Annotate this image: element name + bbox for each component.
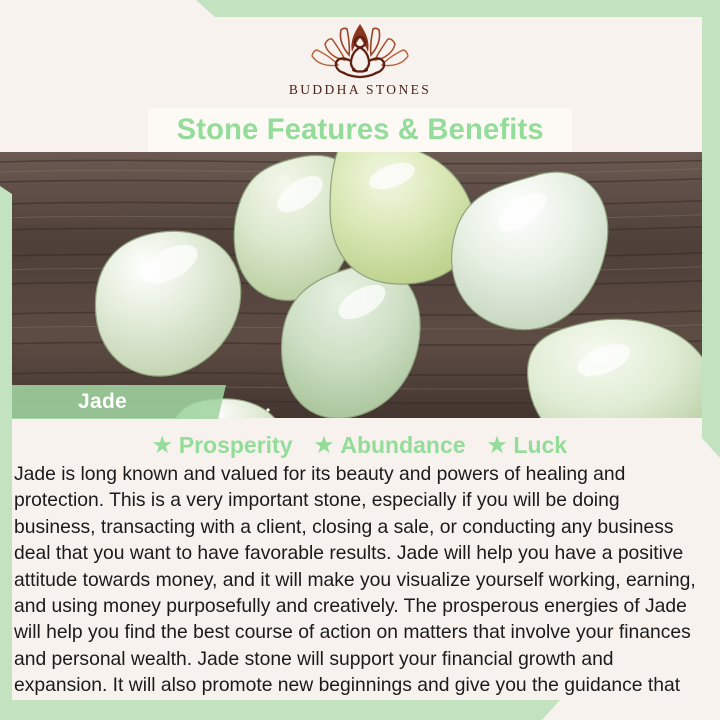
stone-name-label: Jade [78, 390, 127, 414]
lotus-meditation-icon [297, 17, 423, 81]
title-banner: Stone Features & Benefits [148, 108, 572, 152]
star-icon: ★ [153, 435, 172, 456]
stone-info-card: BUDDHA STONES Stone Features & Benefits [0, 0, 720, 720]
stone-name-chip: Jade [0, 385, 226, 419]
jade-stones-illustration [0, 152, 720, 418]
decor-left-green-strip [0, 186, 12, 720]
benefit-label: Prosperity [179, 432, 293, 459]
decor-top-green-band [0, 0, 720, 17]
brand-name: BUDDHA STONES [289, 82, 431, 98]
stone-description: Jade is long known and valued for its be… [14, 461, 701, 720]
brand-logo: BUDDHA STONES [0, 17, 720, 109]
benefit-item-prosperity: ★ Prosperity [153, 432, 293, 459]
star-icon: ★ [315, 435, 334, 456]
star-icon: ★ [488, 435, 507, 456]
benefit-label: Luck [513, 432, 567, 459]
stone-photo [0, 152, 720, 418]
decor-right-green-strip [702, 0, 720, 458]
benefit-item-luck: ★ Luck [488, 432, 568, 459]
page-title: Stone Features & Benefits [176, 113, 543, 147]
benefit-label: Abundance [340, 432, 465, 459]
benefit-item-abundance: ★ Abundance [315, 432, 466, 459]
benefits-row: ★ Prosperity ★ Abundance ★ Luck [0, 429, 720, 461]
